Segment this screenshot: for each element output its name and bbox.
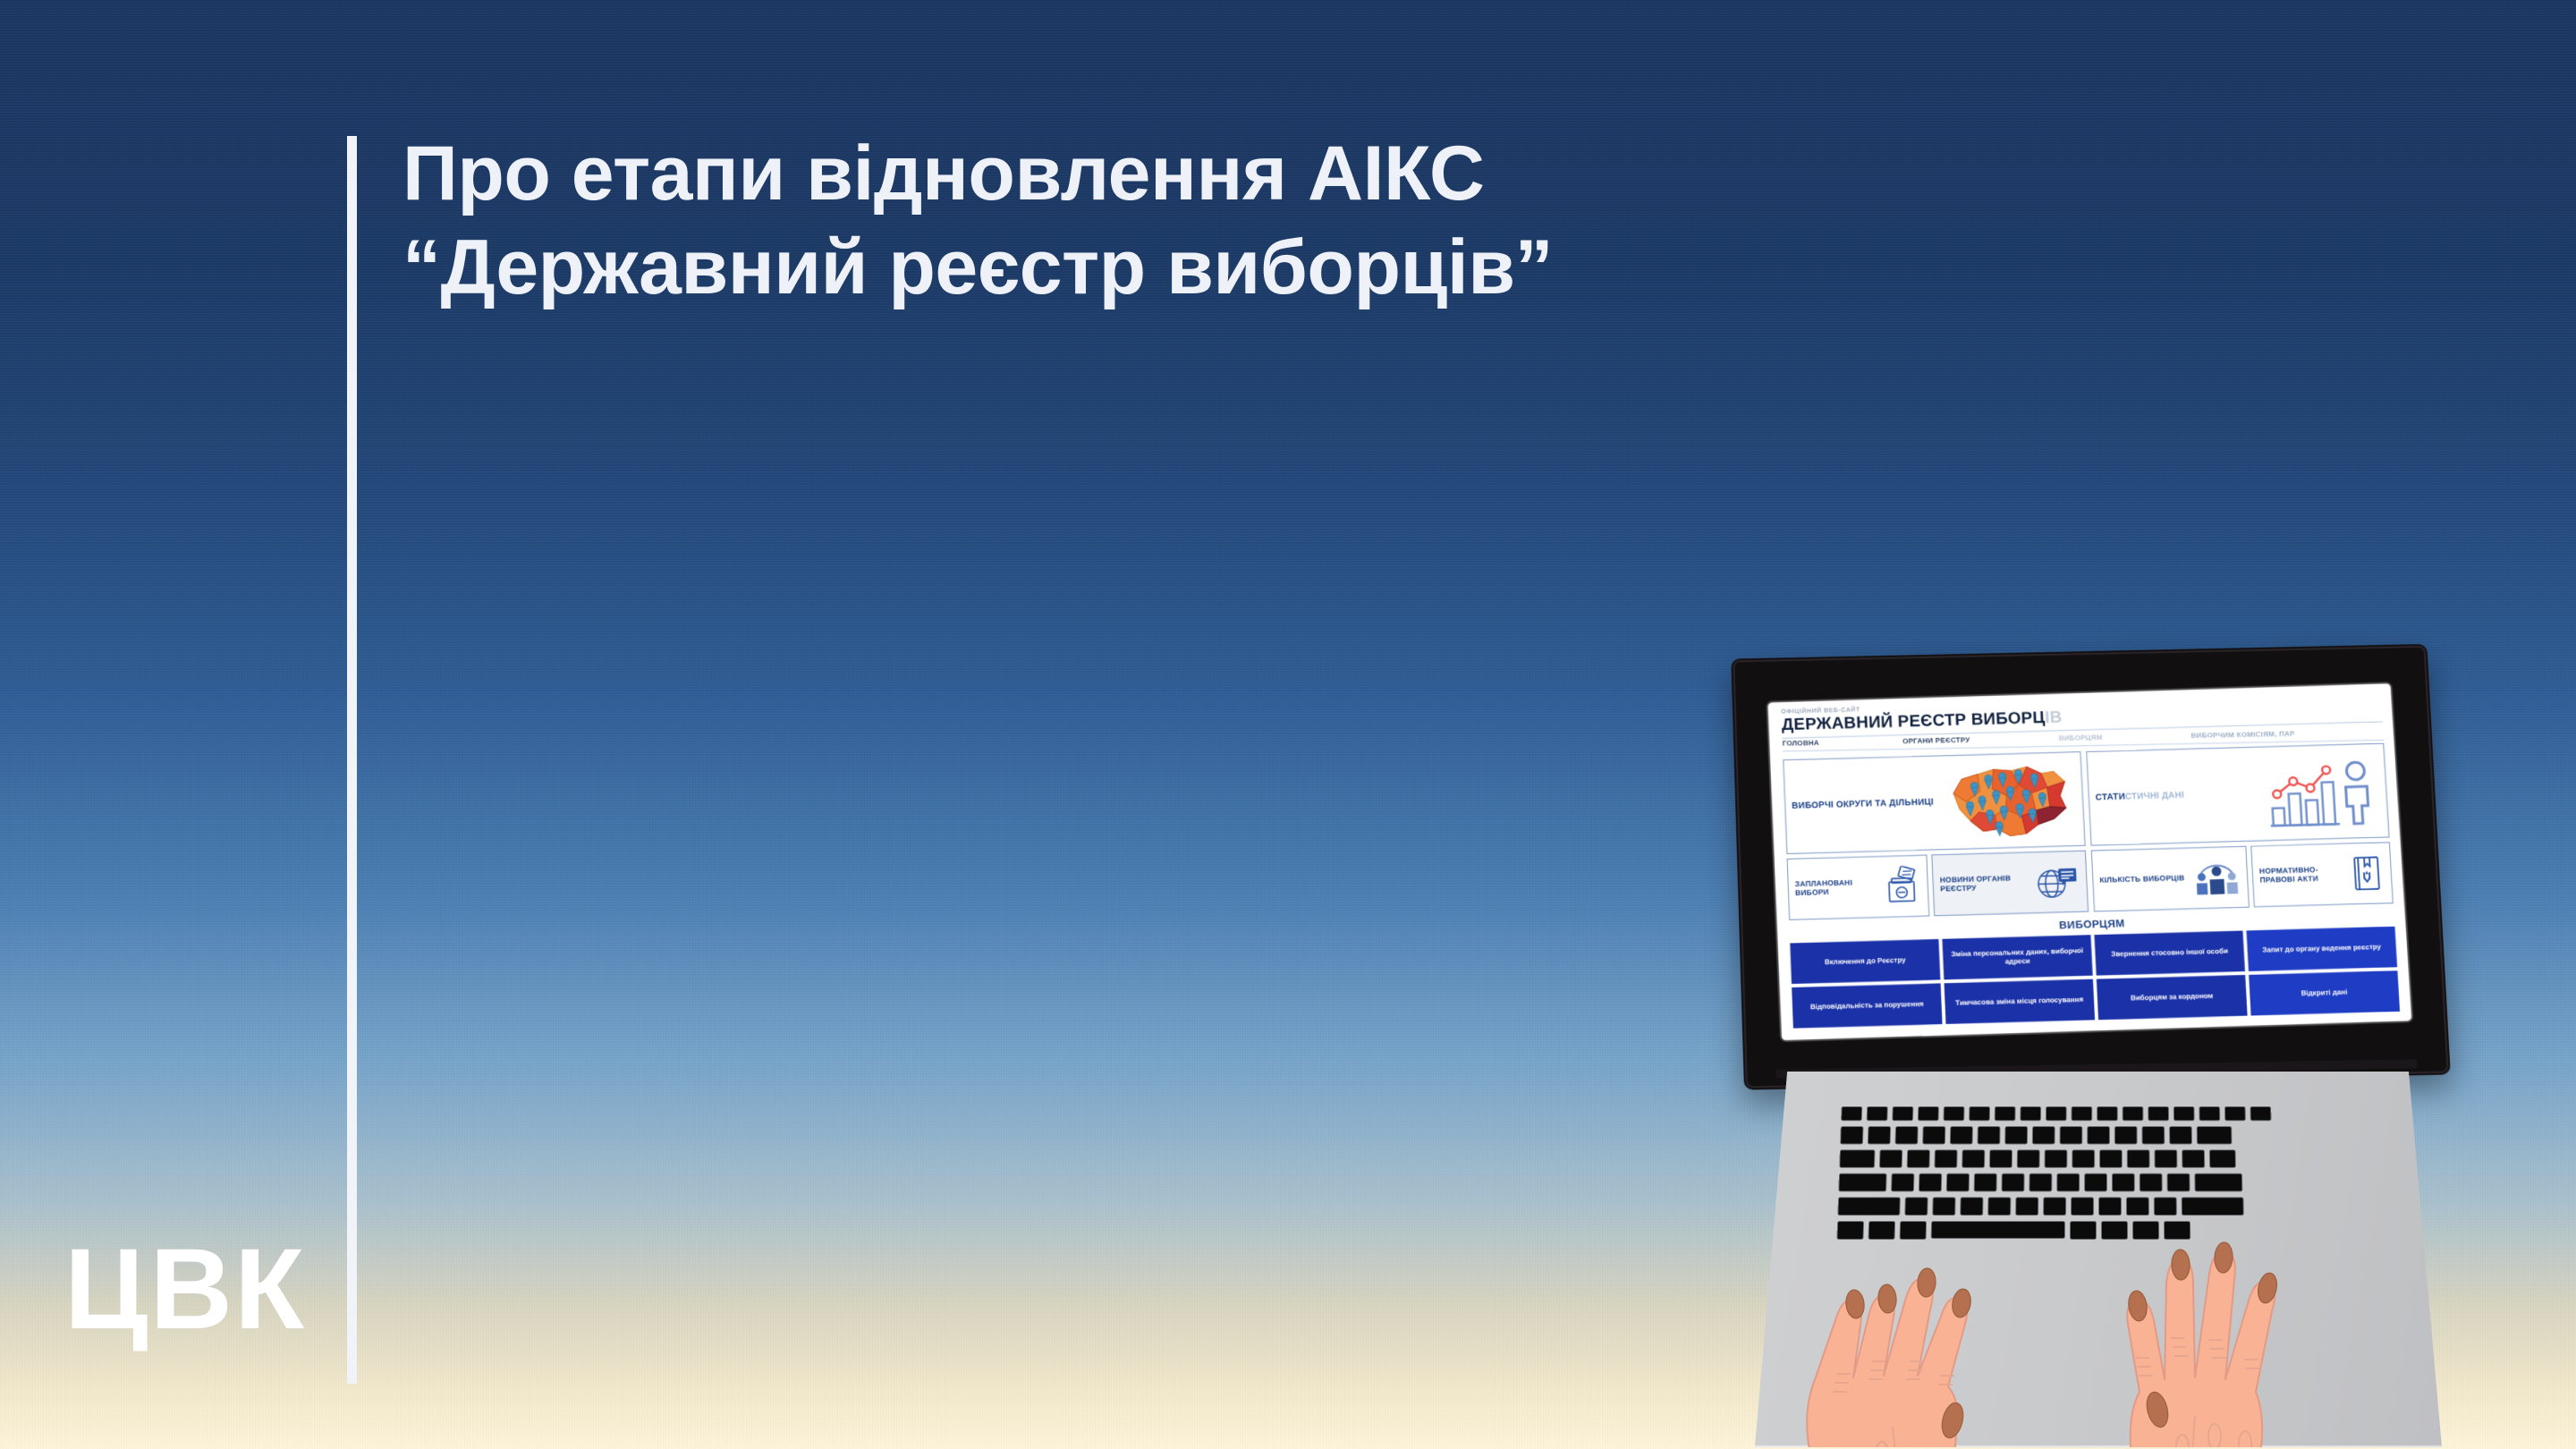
card-column-right: СТАТИСТИЧНІ ДАНІ — [2086, 743, 2394, 912]
card-statistics-label-faded: СТИЧНІ ДАНІ — [2125, 791, 2184, 802]
button-request-registry-body[interactable]: Запит до органу ведення реєстру — [2246, 927, 2397, 971]
title-line-2: “Державний реєстр виборців” — [402, 221, 2281, 315]
button-temporary-change[interactable]: Тимчасова зміна місця голосування — [1945, 979, 2096, 1024]
nav-item-bodies[interactable]: ОРГАНИ РЕЄСТРУ — [1902, 734, 2059, 745]
card-voter-count[interactable]: КІЛЬКІСТЬ ВИБОРЦІВ — [2091, 846, 2250, 912]
card-statistics[interactable]: СТАТИСТИЧНІ ДАНІ — [2086, 743, 2389, 846]
site-name: ДЕРЖАВНИЙ РЕЄСТР ВИБОРЦІВ — [1781, 699, 2382, 735]
law-book-icon — [2348, 852, 2385, 894]
button-voters-abroad[interactable]: Виборцям за кордоном — [2097, 975, 2248, 1020]
people-group-icon — [2192, 858, 2242, 898]
laptop-illustration: ОФІЦІЙНИЙ ВЕБ-САЙТ ДЕРЖАВНИЙ РЕЄСТР ВИБО… — [1744, 626, 2576, 1449]
card-electoral-districts-label: ВИБОРЧІ ОКРУГИ ТА ДІЛЬНИЦІ — [1792, 798, 1934, 812]
laptop-lid: ОФІЦІЙНИЙ ВЕБ-САЙТ ДЕРЖАВНИЙ РЕЄСТР ВИБО… — [1731, 644, 2451, 1090]
button-register-inclusion[interactable]: Включення до Реєстру — [1790, 939, 1940, 984]
site-eyebrow: ОФІЦІЙНИЙ ВЕБ-САЙТ — [1781, 692, 2381, 715]
site-name-main: ДЕРЖАВНИЙ РЕЄСТР ВИБОРЦ — [1781, 708, 2045, 734]
site-name-faded: ІВ — [2045, 708, 2063, 727]
laptop-screen: ОФІЦІЙНИЙ ВЕБ-САЙТ ДЕРЖАВНИЙ РЕЄСТР ВИБО… — [1767, 683, 2411, 1040]
nav-item-commissions[interactable]: ВИБОРЧИМ КОМІСІЯМ, ПАР — [2190, 728, 2383, 740]
website-page: ОФІЦІЙНИЙ ВЕБ-САЙТ ДЕРЖАВНИЙ РЕЄСТР ВИБО… — [1768, 684, 2411, 1039]
button-open-data[interactable]: Відкриті дані — [2249, 970, 2400, 1015]
voter-services-buttons: Включення до Реєстру Зміна персональних … — [1790, 927, 2400, 1029]
voters-section-title: ВИБОРЦЯМ — [1790, 910, 2395, 939]
card-planned-elections-label: ЗАПЛАНОВАНІ ВИБОРИ — [1794, 878, 1882, 898]
site-nav: ГОЛОВНА ОРГАНИ РЕЄСТРУ ВИБОРЦЯМ ВИБОРЧИМ… — [1783, 728, 2384, 751]
button-appeal-other-person[interactable]: Звернення стосовно іншої особи — [2094, 930, 2245, 975]
left-hand — [1757, 1186, 2079, 1449]
title-line-1: Про етапи відновлення АІКС — [402, 131, 1484, 216]
statistics-chart-icon — [2265, 753, 2382, 832]
card-legal-acts-label: НОРМАТИВНО-ПРАВОВІ АКТИ — [2259, 865, 2350, 885]
card-registry-news[interactable]: НОВИНИ ОРГАНІВ РЕЄСТРУ — [1932, 851, 2089, 917]
button-liability[interactable]: Відповідальність за порушення — [1792, 983, 1942, 1028]
card-statistics-label: СТАТИСТИЧНІ ДАНІ — [2096, 791, 2185, 803]
card-electoral-districts[interactable]: ВИБОРЧІ ОКРУГИ ТА ДІЛЬНИЦІ — [1783, 751, 2085, 854]
cvk-logo: ЦВК — [64, 1233, 306, 1347]
ukraine-map-icon — [1942, 757, 2079, 844]
laptop-base — [1751, 1072, 2442, 1447]
nav-item-voters[interactable]: ВИБОРЦЯМ — [2059, 732, 2191, 742]
ballot-box-icon — [1882, 866, 1923, 907]
card-planned-elections[interactable]: ЗАПЛАНОВАНІ ВИБОРИ — [1787, 855, 1930, 920]
nav-item-home[interactable]: ГОЛОВНА — [1783, 737, 1903, 747]
keyboard-row — [1840, 1126, 2371, 1144]
card-row-right-bottom: КІЛЬКІСТЬ ВИБОРЦІВ — [2091, 842, 2394, 911]
globe-news-icon — [2033, 861, 2081, 903]
card-grid: ВИБОРЧІ ОКРУГИ ТА ДІЛЬНИЦІ — [1783, 743, 2394, 920]
card-row-left-bottom: ЗАПЛАНОВАНІ ВИБОРИ — [1787, 851, 2089, 920]
card-voter-count-label: КІЛЬКІСТЬ ВИБОРЦІВ — [2099, 874, 2184, 885]
title-vertical-rule — [347, 136, 357, 1384]
card-registry-news-label: НОВИНИ ОРГАНІВ РЕЄСТРУ — [1940, 874, 2035, 894]
card-statistics-label-main: СТАТИ — [2096, 792, 2126, 803]
button-change-personal-data[interactable]: Зміна персональних даних, виборчої адрес… — [1942, 935, 2092, 979]
slide-canvas: Про етапи відновлення АІКС “Державний ре… — [0, 0, 2576, 1449]
keyboard-row — [1839, 1149, 2372, 1168]
keyboard-row — [1841, 1106, 2370, 1121]
right-hand — [2046, 1168, 2377, 1449]
header-divider — [1782, 721, 2382, 738]
page-title: Про етапи відновлення АІКС “Державний ре… — [402, 127, 2281, 315]
card-column-left: ВИБОРЧІ ОКРУГИ ТА ДІЛЬНИЦІ — [1783, 751, 2089, 920]
card-legal-acts[interactable]: НОРМАТИВНО-ПРАВОВІ АКТИ — [2250, 842, 2393, 907]
